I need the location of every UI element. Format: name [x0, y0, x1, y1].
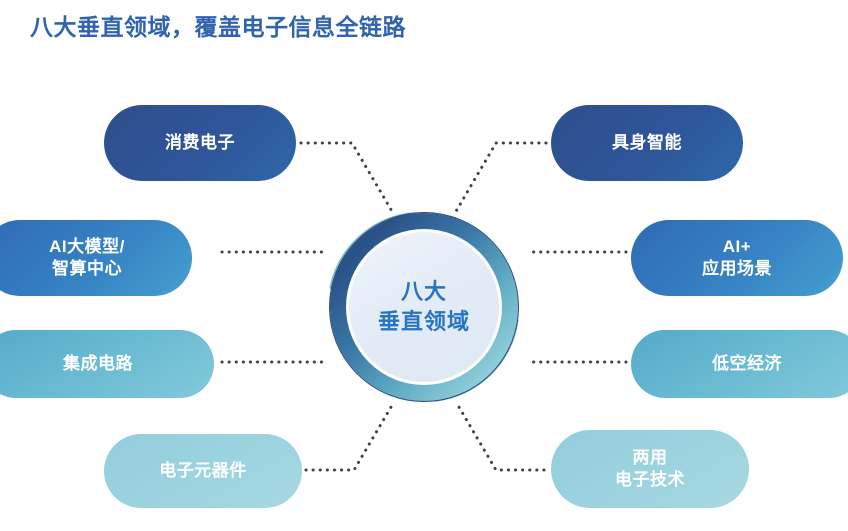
pill-label: 具身智能: [612, 132, 682, 154]
domain-pill-low-altitude-economy[interactable]: 低空经济: [631, 330, 848, 398]
pill-label-line1: 低空经济: [712, 353, 782, 375]
pill-label-line1: AI+: [702, 236, 772, 258]
domain-pill-ai-plus-application-scenarios[interactable]: AI+ 应用场景: [631, 220, 843, 296]
pill-label: 电子元器件: [159, 460, 247, 482]
hub-label-line1: 八大: [401, 277, 447, 307]
domain-pill-consumer-electronics[interactable]: 消费电子: [104, 105, 296, 181]
pill-label-line1: AI大模型/: [49, 236, 125, 258]
domain-pill-electronic-components[interactable]: 电子元器件: [104, 434, 302, 508]
pill-label-line1: 消费电子: [165, 132, 235, 154]
pill-label: 两用 电子技术: [615, 447, 685, 491]
domain-pill-ai-large-model-computing-center[interactable]: AI大模型/ 智算中心: [0, 220, 192, 296]
hub-label-line2: 垂直领域: [378, 307, 470, 337]
center-hub: 八大 垂直领域: [318, 201, 530, 413]
pill-label-line1: 集成电路: [63, 353, 133, 375]
hub-core: 八大 垂直领域: [349, 232, 499, 382]
pill-label-line2: 应用场景: [702, 258, 772, 280]
pill-label-line1: 具身智能: [612, 132, 682, 154]
pill-label: AI+ 应用场景: [702, 236, 772, 280]
domain-pill-integrated-circuit[interactable]: 集成电路: [0, 330, 214, 398]
pill-label: 消费电子: [165, 132, 235, 154]
pill-label-line2: 电子技术: [615, 469, 685, 491]
pill-label: 低空经济: [712, 353, 782, 375]
pill-label-line1: 电子元器件: [159, 460, 247, 482]
pill-label-line1: 两用: [615, 447, 685, 469]
pill-label: 集成电路: [63, 353, 133, 375]
pill-label: AI大模型/ 智算中心: [49, 236, 125, 280]
pill-label-line2: 智算中心: [49, 258, 125, 280]
domain-pill-dual-use-electronic-technology[interactable]: 两用 电子技术: [551, 430, 749, 508]
domain-pill-embodied-intelligence[interactable]: 具身智能: [551, 105, 743, 181]
